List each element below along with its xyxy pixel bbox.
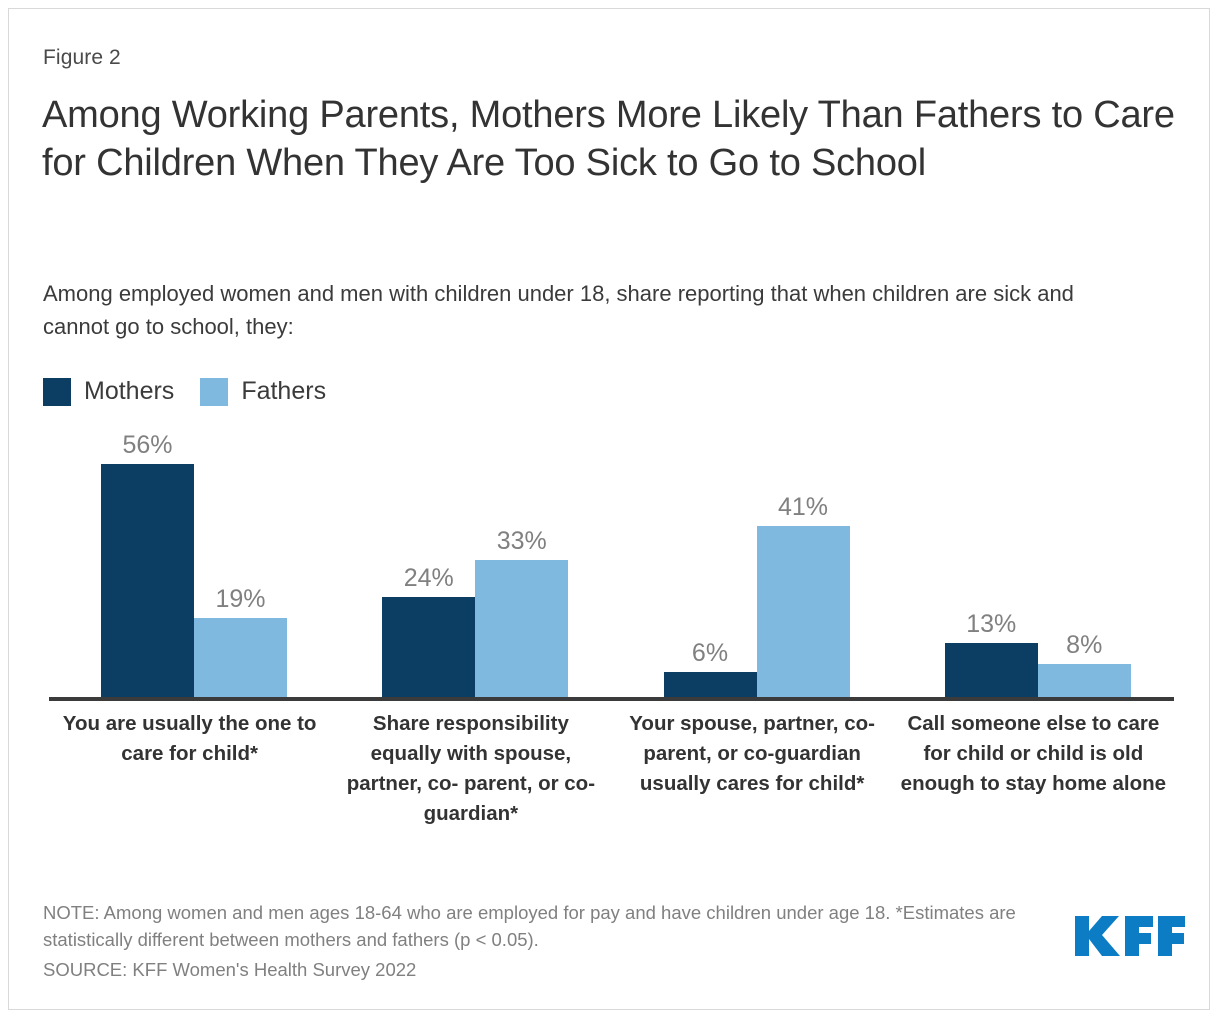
bar-mothers-1[interactable] <box>101 464 194 697</box>
legend-label-fathers: Fathers <box>241 377 326 406</box>
category-label-3: Your spouse, partner, co-parent, or co-g… <box>612 709 893 829</box>
x-axis-category-labels: You are usually the one to care for chil… <box>49 709 1174 829</box>
legend-item-fathers[interactable]: Fathers <box>200 377 326 406</box>
bar-group-4: 13% 8% <box>893 439 1174 697</box>
figure-container: Figure 2 Among Working Parents, Mothers … <box>8 8 1210 1010</box>
legend-item-mothers[interactable]: Mothers <box>43 377 174 406</box>
chart-subtitle: Among employed women and men with childr… <box>43 277 1133 343</box>
legend-swatch-mothers <box>43 378 71 406</box>
bar-group-3: 6% 41% <box>612 439 893 697</box>
chart-plot-area: 56% 19% 24% <box>49 439 1174 701</box>
bar-wrap-fathers-1: 19% <box>194 439 287 697</box>
bar-fathers-2[interactable] <box>475 560 568 697</box>
bar-wrap-mothers-2: 24% <box>382 439 475 697</box>
bar-value-label: 8% <box>1014 631 1154 660</box>
bar-value-label: 33% <box>452 527 592 556</box>
bar-wrap-fathers-2: 33% <box>475 439 568 697</box>
bar-fathers-4[interactable] <box>1038 664 1131 697</box>
bar-groups: 56% 19% 24% <box>49 439 1174 697</box>
category-label-2: Share responsibility equally with spouse… <box>330 709 611 829</box>
chart-legend: Mothers Fathers <box>43 377 352 406</box>
bar-fathers-3[interactable] <box>757 526 850 697</box>
bar-wrap-fathers-4: 8% <box>1038 439 1131 697</box>
legend-label-mothers: Mothers <box>84 377 174 406</box>
legend-swatch-fathers <box>200 378 228 406</box>
page-title: Among Working Parents, Mothers More Like… <box>42 91 1192 187</box>
figure-number: Figure 2 <box>43 46 121 70</box>
bar-group-2: 24% 33% <box>330 439 611 697</box>
bar-value-label: 19% <box>171 585 311 614</box>
bar-mothers-3[interactable] <box>664 672 757 697</box>
footer: NOTE: Among women and men ages 18-64 who… <box>43 899 1043 983</box>
bar-wrap-mothers-1: 56% <box>101 439 194 697</box>
footnote-source: SOURCE: KFF Women's Health Survey 2022 <box>43 956 1043 983</box>
category-label-1: You are usually the one to care for chil… <box>49 709 330 829</box>
kff-logo <box>1075 912 1185 960</box>
bar-fathers-1[interactable] <box>194 618 287 697</box>
category-label-4: Call someone else to care for child or c… <box>893 709 1174 829</box>
bar-group-1: 56% 19% <box>49 439 330 697</box>
footnote-note: NOTE: Among women and men ages 18-64 who… <box>43 899 1023 953</box>
bar-wrap-mothers-3: 6% <box>664 439 757 697</box>
x-axis-line <box>49 697 1174 701</box>
bar-wrap-fathers-3: 41% <box>757 439 850 697</box>
bar-mothers-2[interactable] <box>382 597 475 697</box>
bar-value-label: 41% <box>733 493 873 522</box>
